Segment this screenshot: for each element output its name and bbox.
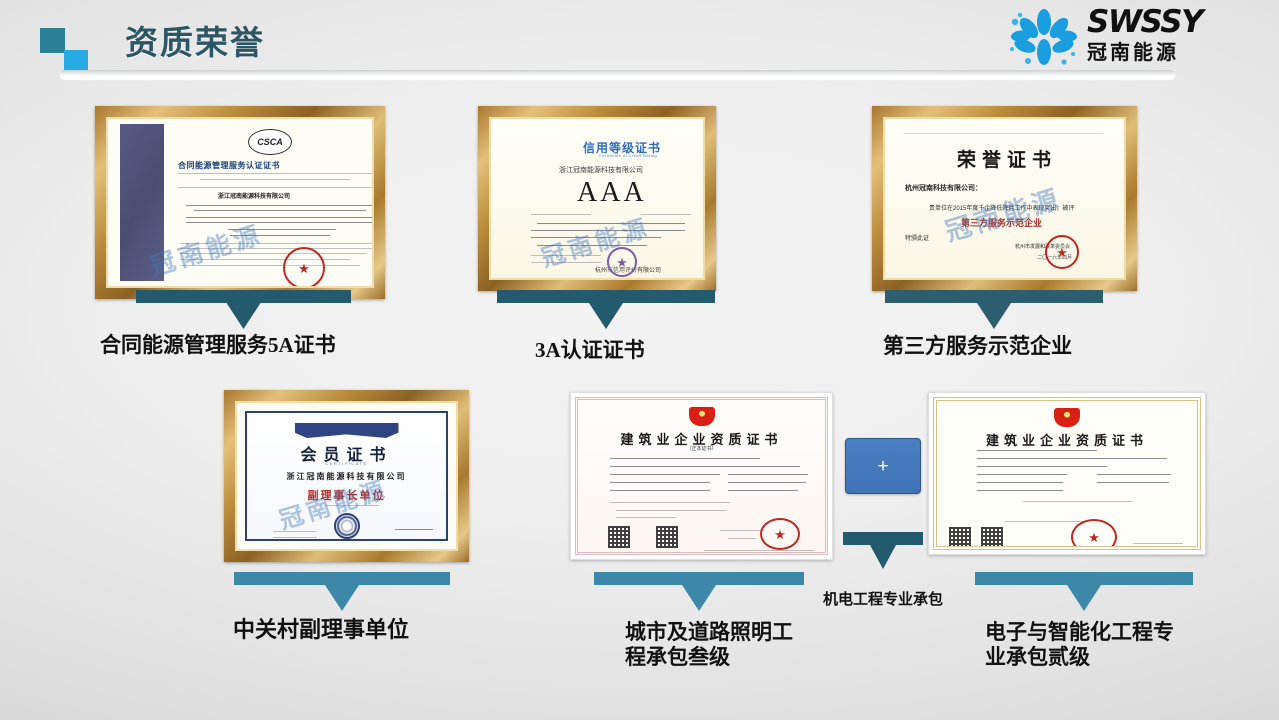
arrow-tip [1067,585,1101,611]
swssy-flower-logo-icon [1007,6,1081,68]
caption-cert-6: 电子与智能化工程专 业承包贰级 [985,620,1235,670]
arrow-callout-middle [843,532,923,569]
cert6-title: 建筑业企业资质证书 [937,430,1197,449]
arrow-bar [234,572,450,585]
caption-cert-1: 合同能源管理服务5A证书 [100,333,400,358]
certificate-image-4[interactable]: 会员证书 CERTIFICATE 浙江冠南能源科技有限公司 副理事长单位 冠南能… [224,390,469,562]
header-decor-squares [40,28,96,72]
cert1-company: 浙江冠南能源科技有限公司 [218,191,290,200]
arrow-tip [870,545,896,569]
arrow-bar [975,572,1193,585]
cert4-inner-frame: 会员证书 CERTIFICATE 浙江冠南能源科技有限公司 副理事长单位 冠南能… [245,411,448,541]
cert4-ribbon [295,423,399,438]
arrow-tip [325,585,359,611]
cert4-medallion-icon [334,513,360,539]
logo-text-block: SWSSY 冠南能源 [1087,6,1202,66]
cert3-title: 荣誉证书 [957,145,1057,172]
cert1-red-seal: ★ [283,247,325,288]
caption-middle-callout: 机电工程专业承包 [823,592,1023,610]
caption-cert-3: 第三方服务示范企业 [883,334,1183,359]
arrow-callout-3 [885,290,1103,329]
cert1-side-band [120,124,164,281]
caption-cert-2: 3A认证证书 [535,338,795,363]
cert6-qr-code-2 [981,527,1003,549]
cert5-red-seal: ★ [760,518,800,550]
arrow-tip [682,585,716,611]
logo-subtext: 冠南能源 [1087,40,1202,66]
arrow-tip [227,303,261,329]
certificate-image-5[interactable]: 建筑业企业资质证书 （正本证书） ★ [570,392,833,560]
arrow-callout-2 [497,290,715,329]
cert3-award: 第三方服务示范企业 [961,216,1042,229]
cert2-rating: AAA [577,177,647,209]
cert5-qr-code-1 [608,526,630,548]
cert1-title: 合同能源管理服务认证证书 [178,160,280,171]
company-logo: SWSSY 冠南能源 [1007,4,1265,70]
arrow-bar [594,572,804,585]
cert2-blue-seal: ★ [607,247,637,277]
caption-cert-4: 中关村副理事单位 [233,617,533,643]
arrow-callout-4 [234,572,450,611]
arrow-tip [589,303,623,329]
arrow-tip [977,303,1011,329]
cert3-body: 贵单位在2015年度千企降低降耗工作中表现突出，被评 [929,203,1074,212]
national-emblem-icon [689,407,715,426]
arrow-bar [497,290,715,303]
cert6-red-seal: ★ [1071,519,1117,550]
arrow-bar [136,290,351,303]
certificate-image-2[interactable]: 信用等级证书 Certificate of Credit Rating 浙江冠南… [478,106,716,291]
cert5-subtitle: （正本证书） [578,445,825,452]
cert2-title-en: Certificate of Credit Rating [599,153,657,158]
certificate-image-6[interactable]: 建筑业企业资质证书 ★ [928,392,1206,555]
logo-wordmark: SWSSY [1087,6,1202,39]
arrow-callout-1 [136,290,351,329]
add-certificate-button[interactable]: + [845,438,921,494]
cert4-title-en: CERTIFICATE [247,461,446,466]
csca-logo-icon: CSCA [248,129,292,155]
cert5-qr-code-2 [656,526,678,548]
cert3-red-seal: ★ [1045,235,1079,269]
header-square-dark-icon [40,28,65,53]
cert6-qr-code-1 [949,527,971,549]
certificate-image-3[interactable]: 荣誉证书 杭州冠南科技有限公司： 贵单位在2015年度千企降低降耗工作中表现突出… [872,106,1137,291]
cert3-note: 特颁此证 [905,233,929,242]
national-emblem-icon [1054,408,1080,427]
arrow-bar [885,290,1103,303]
certificate-image-1[interactable]: CSCA 合同能源管理服务认证证书 浙江冠南能源科技有限公司 ★ 冠南能源 [95,106,385,299]
page-title: 资质荣誉 [125,20,265,66]
arrow-bar [843,532,923,545]
caption-cert-5: 城市及道路照明工 程承包叁级 [625,620,855,670]
cert4-award: 副理事长单位 [247,487,446,503]
arrow-callout-5 [594,572,804,611]
cert4-company: 浙江冠南能源科技有限公司 [247,471,446,482]
cert2-company: 浙江冠南能源科技有限公司 [559,165,643,175]
page-header: 资质荣誉 [0,0,1279,86]
cert3-company: 杭州冠南科技有限公司： [905,183,982,193]
header-divider [60,70,1175,79]
